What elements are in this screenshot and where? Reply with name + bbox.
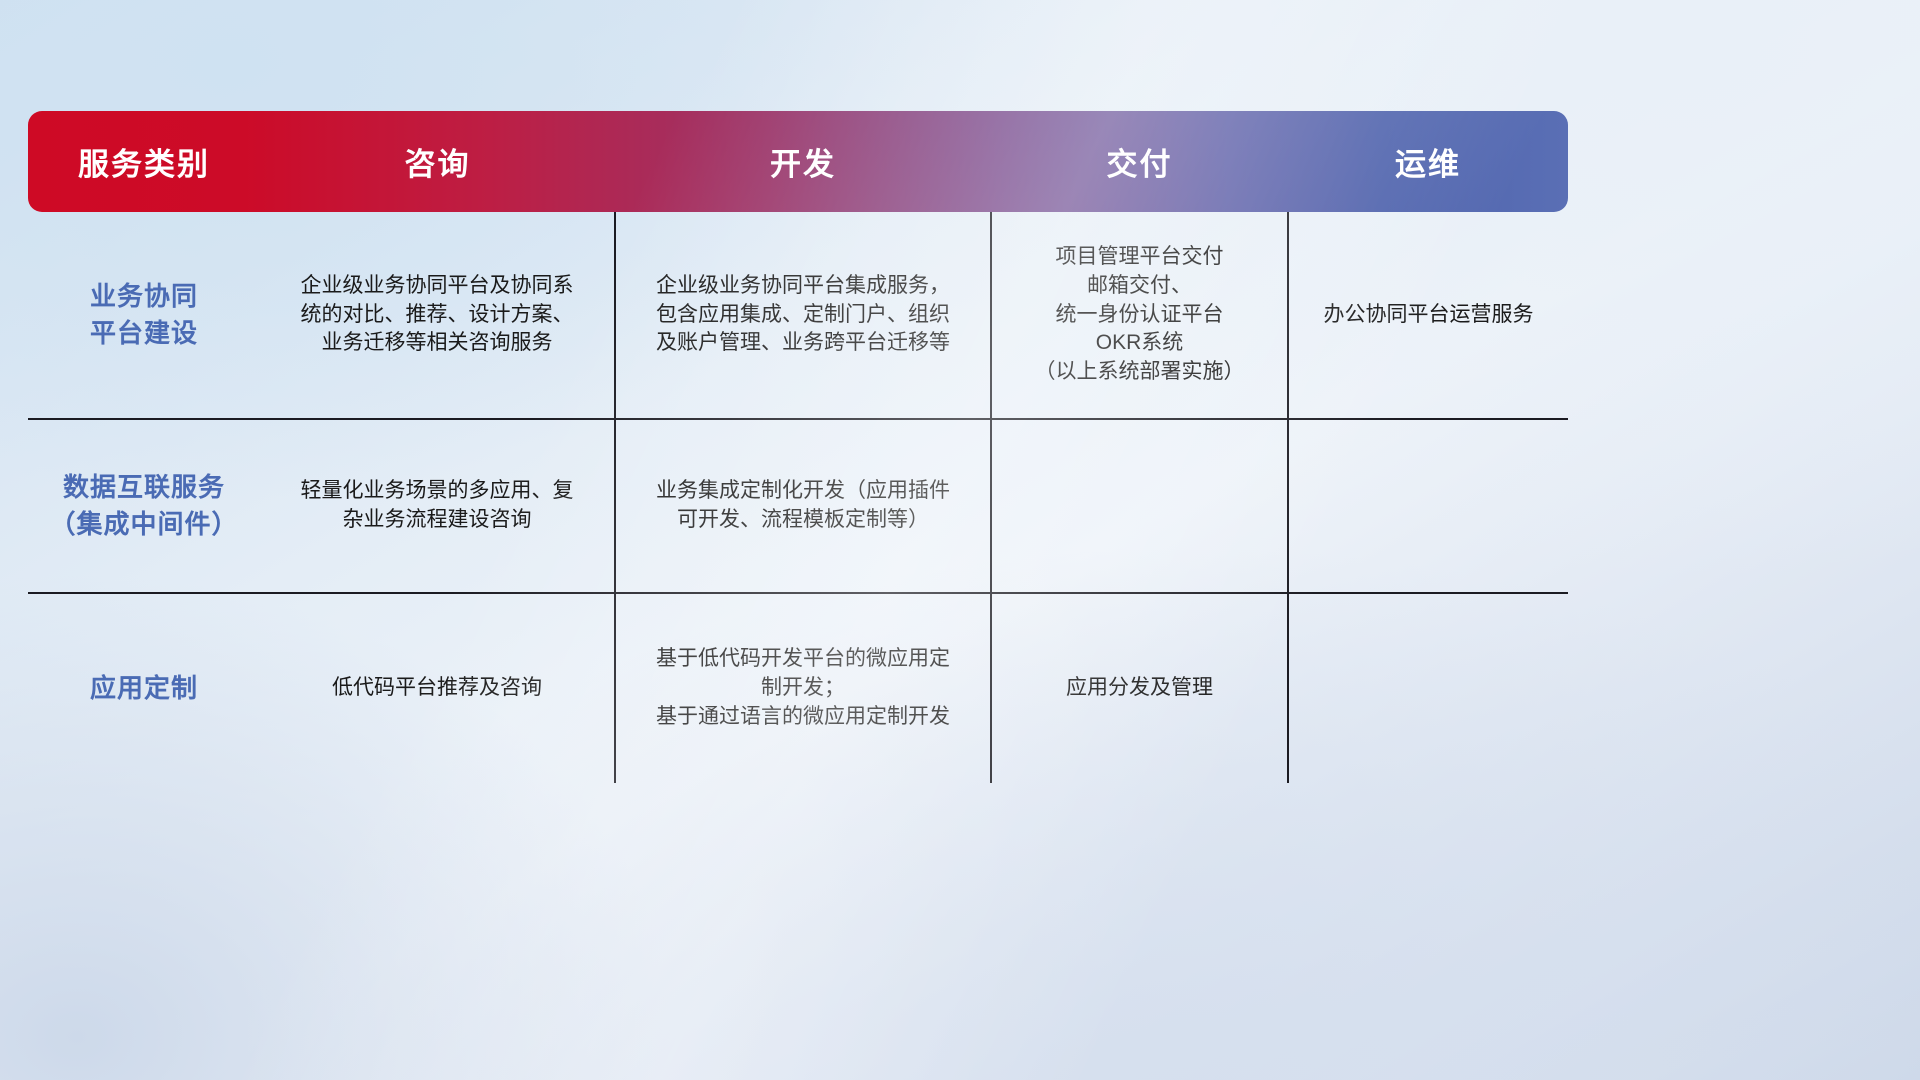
cell-category-row2: 数据互联服务 （集成中间件） bbox=[28, 419, 260, 593]
cell-text: 业务协同 平台建设 bbox=[42, 278, 246, 352]
header-label-category: 服务类别 bbox=[28, 139, 260, 184]
header-label-consulting: 咨询 bbox=[260, 139, 615, 184]
header-cell-development: 开发 bbox=[615, 111, 991, 212]
cell-consulting-row3: 低代码平台推荐及咨询 bbox=[260, 593, 615, 783]
table-row: 应用定制 低代码平台推荐及咨询 基于低代码开发平台的微应用定 制开发； 基于通过… bbox=[28, 593, 1568, 783]
cell-category-row1: 业务协同 平台建设 bbox=[28, 212, 260, 419]
slide-canvas: 服务类别 咨询 开发 交付 运维 bbox=[0, 0, 1920, 1080]
cell-development-row1: 企业级业务协同平台集成服务， 包含应用集成、定制门户、组织 及账户管理、业务跨平… bbox=[615, 212, 991, 419]
table-header-row: 服务类别 咨询 开发 交付 运维 bbox=[28, 111, 1568, 212]
header-cell-consulting: 咨询 bbox=[260, 111, 615, 212]
table-row: 业务协同 平台建设 企业级业务协同平台及协同系 统的对比、推荐、设计方案、 业务… bbox=[28, 212, 1568, 419]
table-header: 服务类别 咨询 开发 交付 运维 bbox=[28, 111, 1568, 212]
cell-operations-row2 bbox=[1288, 419, 1568, 593]
cell-text: 项目管理平台交付 邮箱交付、 统一身份认证平台 OKR系统 （以上系统部署实施） bbox=[1006, 243, 1273, 388]
cell-text: 企业级业务协同平台集成服务， 包含应用集成、定制门户、组织 及账户管理、业务跨平… bbox=[630, 272, 976, 359]
header-label-delivery: 交付 bbox=[991, 139, 1288, 184]
cell-development-row2: 业务集成定制化开发（应用插件 可开发、流程模板定制等） bbox=[615, 419, 991, 593]
table-body: 业务协同 平台建设 企业级业务协同平台及协同系 统的对比、推荐、设计方案、 业务… bbox=[28, 212, 1568, 783]
cell-consulting-row2: 轻量化业务场景的多应用、复 杂业务流程建设咨询 bbox=[260, 419, 615, 593]
cell-text: 基于低代码开发平台的微应用定 制开发； 基于通过语言的微应用定制开发 bbox=[630, 645, 976, 732]
cell-text: 业务集成定制化开发（应用插件 可开发、流程模板定制等） bbox=[630, 477, 976, 535]
header-label-development: 开发 bbox=[615, 139, 991, 184]
service-matrix-table: 服务类别 咨询 开发 交付 运维 bbox=[28, 111, 1568, 783]
cell-operations-row3 bbox=[1288, 593, 1568, 783]
cell-development-row3: 基于低代码开发平台的微应用定 制开发； 基于通过语言的微应用定制开发 bbox=[615, 593, 991, 783]
cell-delivery-row3: 应用分发及管理 bbox=[991, 593, 1288, 783]
header-cell-delivery: 交付 bbox=[991, 111, 1288, 212]
header-cell-category: 服务类别 bbox=[28, 111, 260, 212]
table-row: 数据互联服务 （集成中间件） 轻量化业务场景的多应用、复 杂业务流程建设咨询 业… bbox=[28, 419, 1568, 593]
cell-text: 低代码平台推荐及咨询 bbox=[274, 674, 600, 703]
cell-text: 办公协同平台运营服务 bbox=[1303, 301, 1554, 330]
cell-delivery-row2 bbox=[991, 419, 1288, 593]
cell-text: 应用定制 bbox=[42, 670, 246, 707]
cell-text: 轻量化业务场景的多应用、复 杂业务流程建设咨询 bbox=[274, 477, 600, 535]
cell-category-row3: 应用定制 bbox=[28, 593, 260, 783]
cell-operations-row1: 办公协同平台运营服务 bbox=[1288, 212, 1568, 419]
cell-consulting-row1: 企业级业务协同平台及协同系 统的对比、推荐、设计方案、 业务迁移等相关咨询服务 bbox=[260, 212, 615, 419]
service-matrix-table-wrapper: 服务类别 咨询 开发 交付 运维 bbox=[28, 111, 1568, 783]
cell-delivery-row1: 项目管理平台交付 邮箱交付、 统一身份认证平台 OKR系统 （以上系统部署实施） bbox=[991, 212, 1288, 419]
cell-text: 企业级业务协同平台及协同系 统的对比、推荐、设计方案、 业务迁移等相关咨询服务 bbox=[274, 272, 600, 359]
cell-text: 数据互联服务 （集成中间件） bbox=[42, 469, 246, 543]
cell-text: 应用分发及管理 bbox=[1006, 674, 1273, 703]
header-cell-operations: 运维 bbox=[1288, 111, 1568, 212]
header-label-operations: 运维 bbox=[1288, 139, 1568, 184]
